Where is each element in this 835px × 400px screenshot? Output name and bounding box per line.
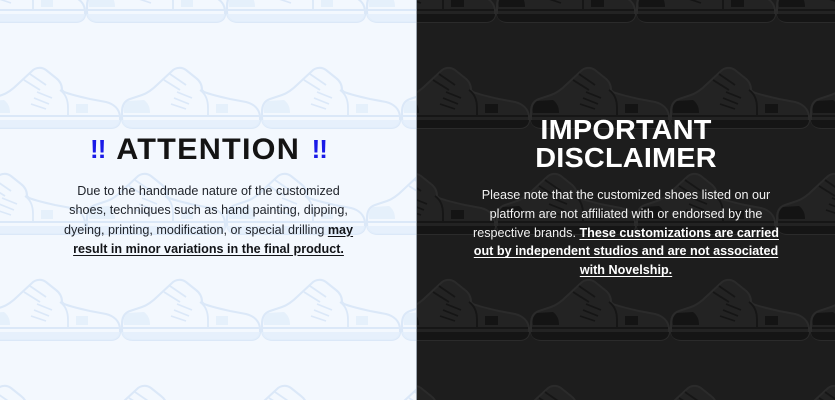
warning-bang-right-icon: !! [312,136,327,162]
warning-bang-left-icon: !! [90,136,105,162]
disclaimer-panel: IMPORTANT DISCLAIMER Please note that th… [417,0,835,400]
disclaimer-heading: IMPORTANT DISCLAIMER [438,116,815,173]
disclaimer-body: Please note that the customized shoes li… [466,186,786,280]
attention-content: !! ATTENTION !! Due to the handmade natu… [0,135,417,259]
disclaimer-heading-line-2: DISCLAIMER [438,144,815,173]
attention-heading: !! ATTENTION !! [30,135,387,165]
attention-body-plain: Due to the handmade nature of the custom… [64,184,348,236]
disclaimer-heading-line-1: IMPORTANT [438,116,815,145]
panel-divider [416,0,417,400]
attention-body: Due to the handmade nature of the custom… [59,182,359,259]
attention-heading-word: ATTENTION [117,135,301,165]
disclaimer-banner: !! ATTENTION !! Due to the handmade natu… [0,0,835,400]
attention-panel: !! ATTENTION !! Due to the handmade natu… [0,0,417,400]
disclaimer-content: IMPORTANT DISCLAIMER Please note that th… [417,116,835,281]
